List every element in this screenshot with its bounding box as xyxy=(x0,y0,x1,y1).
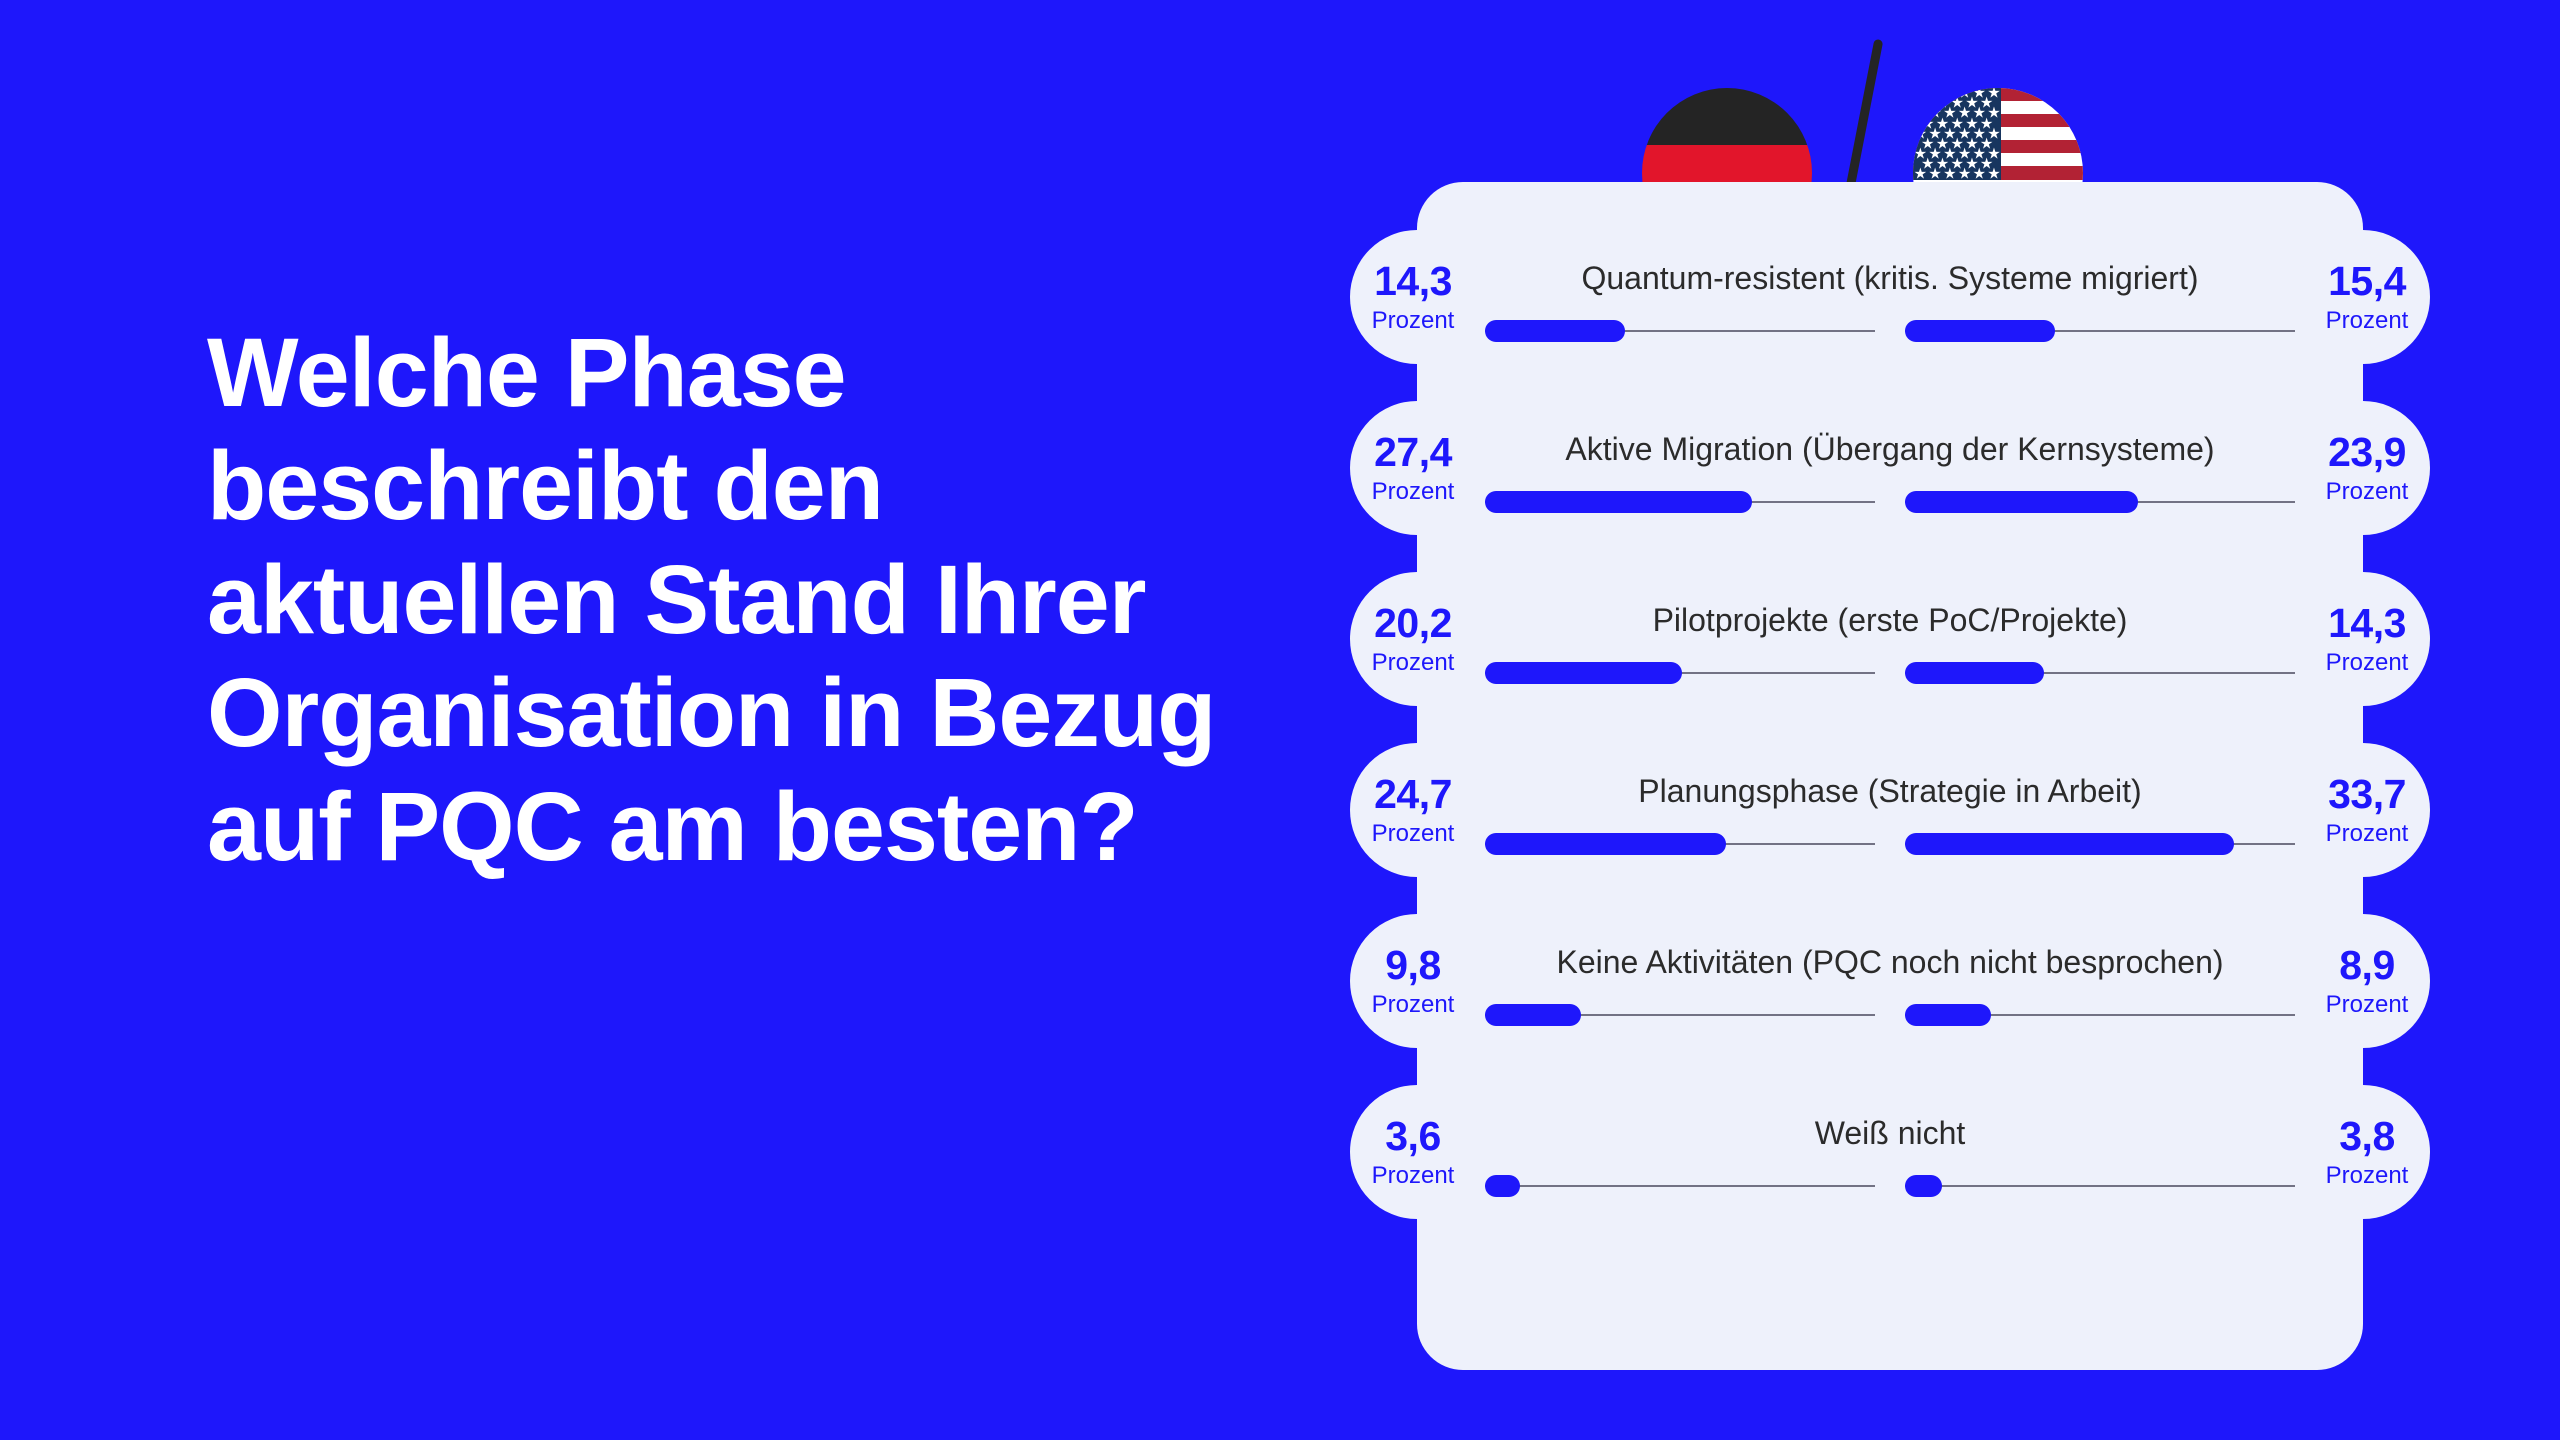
bar-baseline xyxy=(1485,1185,1875,1187)
bar-track-usa xyxy=(1905,1004,2295,1026)
stat-usa: 8,9Prozent xyxy=(2287,914,2447,1048)
bar-track-usa xyxy=(1905,320,2295,342)
stat-germany: 9,8Prozent xyxy=(1333,914,1493,1048)
row-bars xyxy=(1485,833,2295,855)
bar-track-germany xyxy=(1485,1004,1875,1026)
stat-unit-usa: Prozent xyxy=(2326,651,2409,675)
stat-unit-usa: Prozent xyxy=(2326,1164,2409,1188)
bar-fill-usa xyxy=(1905,491,2138,513)
flag-star: ★ xyxy=(1943,167,1956,180)
stat-unit-germany: Prozent xyxy=(1372,651,1455,675)
flag-star: ★ xyxy=(1987,167,2000,180)
bar-track-usa xyxy=(1905,1175,2295,1197)
row-bars xyxy=(1485,491,2295,513)
row-bars xyxy=(1485,1175,2295,1197)
flag-star: ★ xyxy=(1973,167,1986,180)
bar-fill-germany xyxy=(1485,662,1682,684)
bar-fill-germany xyxy=(1485,1004,1581,1026)
row-label: Quantum-resistent (kritis. Systeme migri… xyxy=(1417,260,2363,297)
bar-fill-germany xyxy=(1485,491,1752,513)
stat-unit-germany: Prozent xyxy=(1372,993,1455,1017)
row-bars xyxy=(1485,662,2295,684)
row-label: Planungsphase (Strategie in Arbeit) xyxy=(1417,773,2363,810)
result-row: 24,7Prozent33,7ProzentPlanungsphase (Str… xyxy=(1417,743,2363,903)
bar-track-usa xyxy=(1905,491,2295,513)
bar-fill-germany xyxy=(1485,833,1726,855)
bar-fill-germany xyxy=(1485,1175,1520,1197)
page-title: Welche Phase beschreibt den aktuellen St… xyxy=(207,316,1227,883)
stat-germany: 3,6Prozent xyxy=(1333,1085,1493,1219)
stat-unit-usa: Prozent xyxy=(2326,309,2409,333)
result-row: 27,4Prozent23,9ProzentAktive Migration (… xyxy=(1417,401,2363,561)
stat-unit-usa: Prozent xyxy=(2326,822,2409,846)
stat-unit-usa: Prozent xyxy=(2326,480,2409,504)
stat-germany: 20,2Prozent xyxy=(1333,572,1493,706)
bar-baseline xyxy=(1905,1185,2295,1187)
row-label: Pilotprojekte (erste PoC/Projekte) xyxy=(1417,602,2363,639)
row-bars xyxy=(1485,320,2295,342)
bar-fill-usa xyxy=(1905,1175,1942,1197)
stat-unit-germany: Prozent xyxy=(1372,480,1455,504)
bar-fill-usa xyxy=(1905,833,2234,855)
bar-fill-usa xyxy=(1905,320,2055,342)
stat-usa: 23,9Prozent xyxy=(2287,401,2447,535)
bar-track-germany xyxy=(1485,491,1875,513)
bar-track-usa xyxy=(1905,662,2295,684)
row-label: Weiß nicht xyxy=(1417,1115,2363,1152)
flag-star: ★ xyxy=(1928,167,1941,180)
row-label: Keine Aktivitäten (PQC noch nicht bespro… xyxy=(1417,944,2363,981)
row-label: Aktive Migration (Übergang der Kernsyste… xyxy=(1417,431,2363,468)
stat-unit-germany: Prozent xyxy=(1372,822,1455,846)
stat-unit-germany: Prozent xyxy=(1372,309,1455,333)
result-row: 3,6Prozent3,8ProzentWeiß nicht xyxy=(1417,1085,2363,1245)
stat-unit-usa: Prozent xyxy=(2326,993,2409,1017)
bar-fill-germany xyxy=(1485,320,1625,342)
bar-fill-usa xyxy=(1905,1004,1992,1026)
result-row: 14,3Prozent15,4ProzentQuantum-resistent … xyxy=(1417,230,2363,390)
results-card: 14,3Prozent15,4ProzentQuantum-resistent … xyxy=(1417,182,2363,1370)
flag-star: ★ xyxy=(1958,167,1971,180)
bar-fill-usa xyxy=(1905,662,2045,684)
bar-track-germany xyxy=(1485,662,1875,684)
stat-unit-germany: Prozent xyxy=(1372,1164,1455,1188)
stat-usa: 14,3Prozent xyxy=(2287,572,2447,706)
row-bars xyxy=(1485,1004,2295,1026)
stat-usa: 3,8Prozent xyxy=(2287,1085,2447,1219)
bar-track-germany xyxy=(1485,1175,1875,1197)
stat-germany: 24,7Prozent xyxy=(1333,743,1493,877)
result-row: 20,2Prozent14,3ProzentPilotprojekte (ers… xyxy=(1417,572,2363,732)
bar-track-germany xyxy=(1485,320,1875,342)
stat-usa: 33,7Prozent xyxy=(2287,743,2447,877)
result-row: 9,8Prozent8,9ProzentKeine Aktivitäten (P… xyxy=(1417,914,2363,1074)
bar-track-usa xyxy=(1905,833,2295,855)
stat-germany: 27,4Prozent xyxy=(1333,401,1493,535)
flag-star: ★ xyxy=(1914,167,1927,180)
stat-usa: 15,4Prozent xyxy=(2287,230,2447,364)
bar-track-germany xyxy=(1485,833,1875,855)
stat-germany: 14,3Prozent xyxy=(1333,230,1493,364)
